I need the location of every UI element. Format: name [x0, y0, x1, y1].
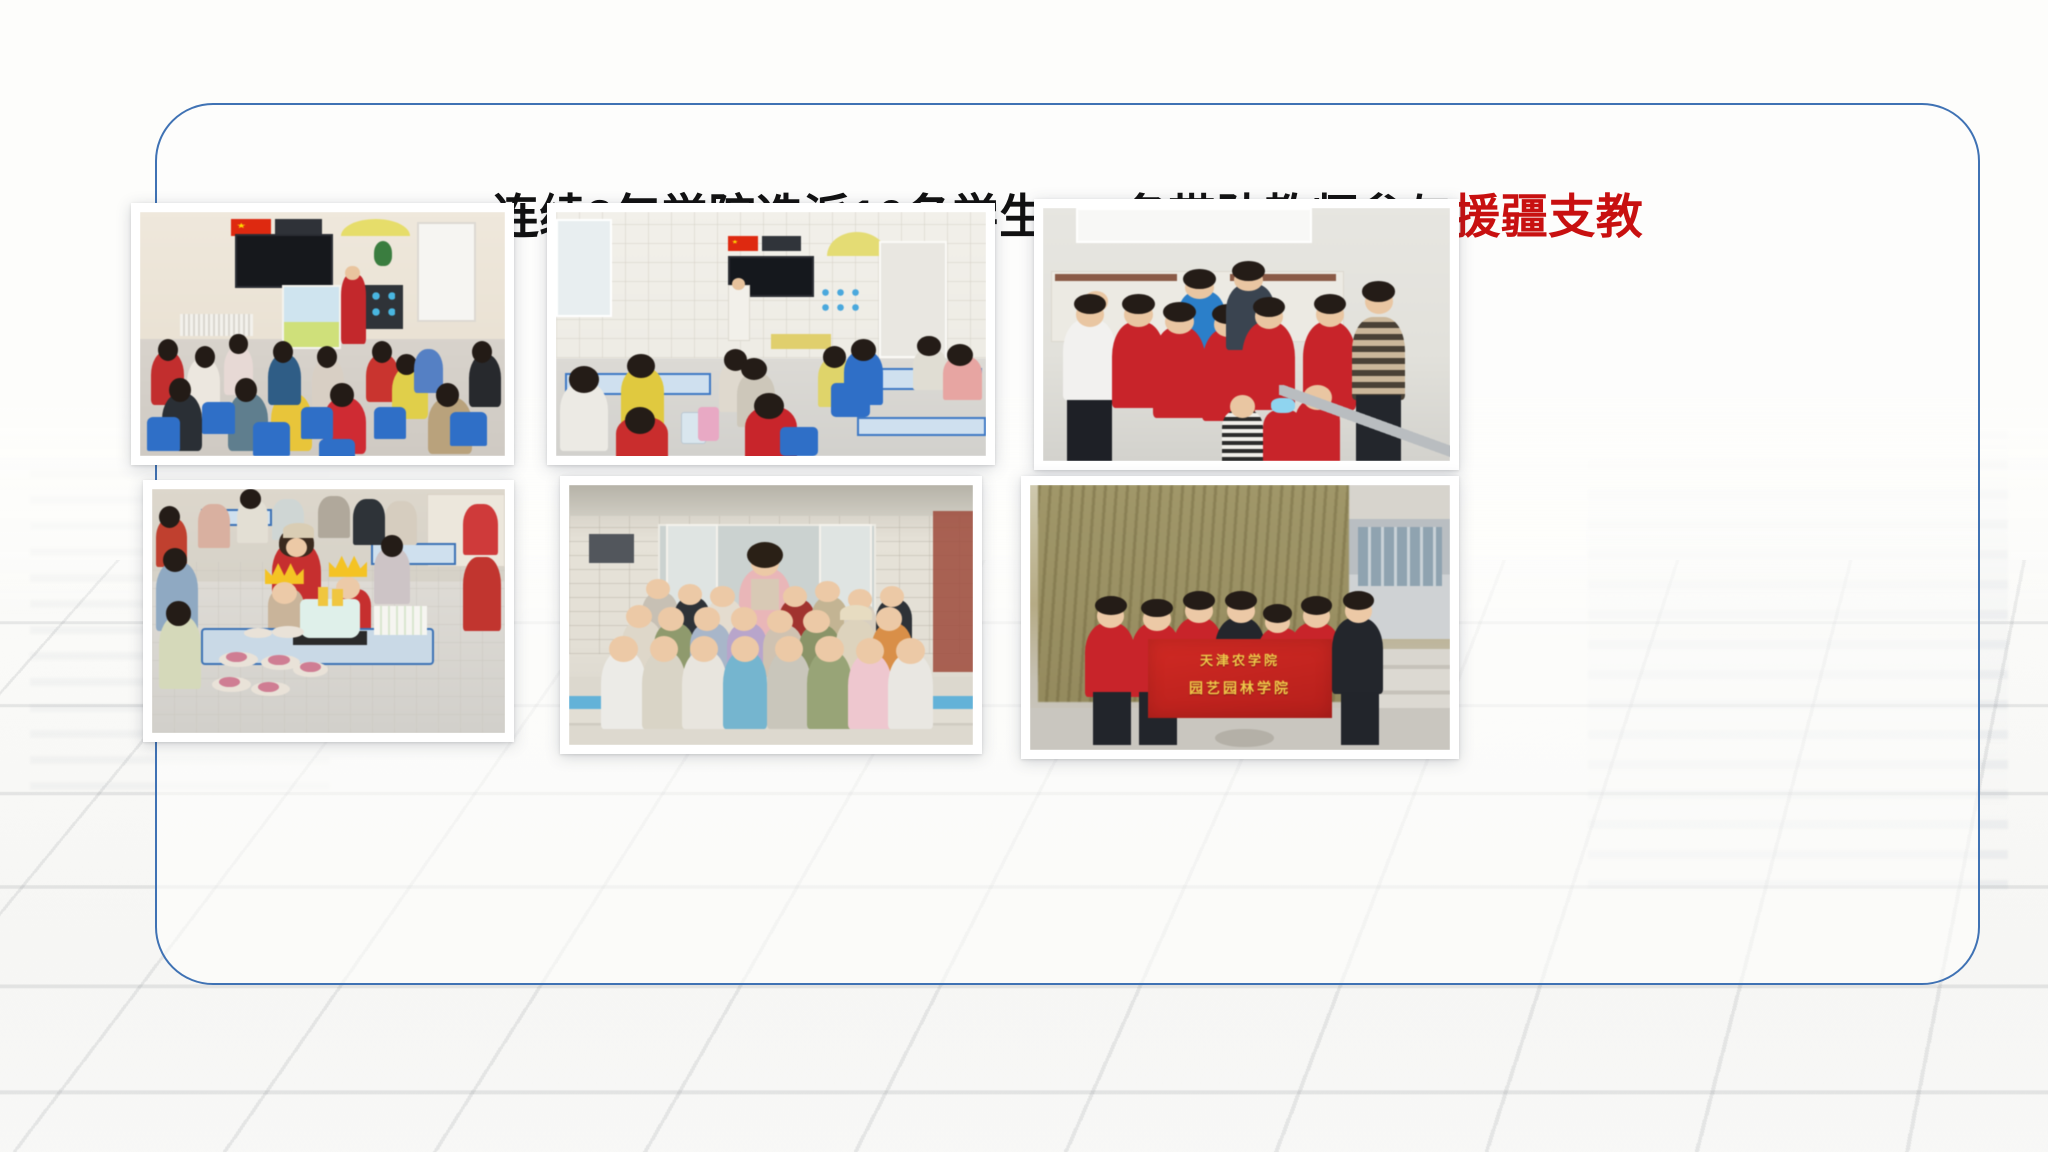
cake-candle: [318, 587, 329, 607]
child-seated: [560, 383, 607, 451]
teacher-hair: [1343, 591, 1375, 610]
blue-chair: [202, 402, 235, 434]
china-flag-poster-icon: [728, 236, 758, 251]
sun-hat: [840, 605, 872, 621]
photo-banner-departure-image: 天津农学院 园艺园林学院: [1030, 485, 1450, 750]
child-head: [627, 354, 655, 378]
blue-chair: [831, 383, 870, 417]
water-bottle: [698, 407, 720, 441]
stair-handrail: [1279, 385, 1450, 461]
red-banner: 天津农学院 园艺园林学院: [1148, 639, 1333, 719]
child-head: [381, 535, 402, 557]
photo-birthday-party-image: [152, 489, 505, 733]
volunteer-hair: [1253, 297, 1286, 317]
photo-group-stairwell-image: [1043, 208, 1450, 461]
photo-birthday-party[interactable]: [143, 480, 514, 742]
display-board-pattern: [818, 285, 865, 317]
child-head: [195, 346, 215, 368]
step-color-band: [933, 696, 973, 709]
child-front-row: [848, 654, 892, 729]
snack: [258, 682, 279, 692]
step-color-band: [569, 696, 605, 709]
volunteer-trousers: [1067, 400, 1112, 461]
child-seated: [463, 557, 502, 630]
photo-group-stairwell[interactable]: [1034, 199, 1459, 470]
child-standing: [159, 616, 201, 689]
teacher-cap: [283, 523, 315, 538]
child-head: [851, 339, 877, 361]
teacher-hair: [1362, 281, 1395, 301]
wall-photo: [762, 236, 801, 251]
child-face: [710, 586, 734, 607]
child-seated: [318, 496, 350, 537]
child-seated: [198, 504, 230, 548]
child-face: [650, 636, 678, 662]
banner-line-1: 天津农学院: [1148, 650, 1333, 669]
radiator: [180, 314, 253, 336]
child-head: [625, 407, 655, 434]
child-head: [235, 378, 257, 402]
volunteer-white-shirt: [1063, 319, 1116, 400]
child-face: [815, 581, 839, 602]
child-seated: [463, 504, 498, 555]
teacher-dark-jacket: [1332, 618, 1382, 695]
teacher-hair: [747, 542, 783, 568]
page-title-accent: 援疆支教: [1453, 190, 1643, 243]
child-head: [917, 336, 941, 356]
held-picture-book: [282, 285, 340, 348]
child-head: [163, 548, 188, 572]
student-hair: [1183, 269, 1216, 289]
snack: [268, 655, 289, 665]
banner-line-2: 园艺园林学院: [1148, 678, 1333, 698]
child-head: [166, 601, 191, 625]
photo-classroom-poster-image: [140, 212, 505, 456]
volunteer-hair: [1095, 596, 1127, 615]
child-front-row: [601, 651, 645, 729]
blue-chair: [147, 417, 180, 451]
birthday-cake: [300, 599, 360, 638]
child-front-row: [642, 651, 686, 729]
child-front-row: [888, 654, 932, 729]
volunteer-hair: [1122, 294, 1155, 314]
photo-classroom-poster[interactable]: [131, 203, 514, 465]
building-windows: [1358, 527, 1442, 585]
child-face: [690, 636, 718, 662]
child-face: [1230, 395, 1254, 418]
wall-plaque: [589, 534, 633, 563]
teacher-body: [728, 285, 750, 341]
child-seated: [353, 499, 385, 545]
photo-classroom-screen[interactable]: [547, 203, 995, 465]
blue-chair: [450, 412, 487, 446]
child-head: [947, 344, 973, 366]
volunteer-hair: [1183, 591, 1215, 610]
volunteer-hair: [1163, 302, 1196, 322]
photo-kids-entrance-image: [569, 485, 973, 745]
teacher-trousers: [1341, 692, 1379, 745]
classroom-door: [417, 222, 475, 322]
child-face: [646, 579, 670, 600]
child-head: [240, 489, 261, 509]
child-face: [896, 638, 924, 664]
child-face: [272, 582, 297, 604]
teacher-striped-top: [751, 579, 779, 610]
child-face: [694, 607, 720, 630]
volunteer-red-jacket: [1085, 623, 1135, 697]
classroom-window: [556, 219, 612, 317]
paper-plate: [272, 626, 304, 638]
snack-plate: [244, 628, 272, 638]
child-head: [569, 366, 599, 393]
volunteer-red-jacket: [1153, 327, 1206, 418]
child-face: [815, 636, 843, 662]
photo-banner-departure[interactable]: 天津农学院 园艺园林学院: [1021, 476, 1459, 759]
classroom-table: [857, 417, 986, 437]
snack: [219, 677, 240, 687]
child-head: [158, 339, 178, 361]
wall-tree-decor: [374, 241, 392, 265]
blue-chair: [780, 427, 819, 456]
mural-border-top: [1055, 274, 1177, 282]
child-face: [609, 636, 637, 662]
child-face: [775, 636, 803, 662]
wall-tv-screen: [235, 234, 334, 288]
child-head: [741, 358, 767, 380]
volunteer-hair: [1263, 604, 1292, 623]
volunteer-trousers: [1093, 692, 1131, 745]
child-front-row: [723, 651, 767, 729]
teacher-hair: [1225, 591, 1257, 610]
child-front-row: [767, 651, 811, 729]
child-front-row: [682, 651, 726, 729]
child-face: [876, 607, 902, 630]
child-face: [678, 584, 702, 605]
blue-chair: [301, 407, 334, 439]
teacher-body: [341, 275, 367, 343]
photo-kids-entrance[interactable]: [560, 476, 982, 754]
child-head: [754, 393, 784, 420]
manhole-cover: [1215, 729, 1274, 748]
yellow-bench: [771, 334, 831, 349]
milk-bottle-pack: [374, 606, 427, 635]
entrance-awning: [569, 485, 973, 516]
blue-chair: [253, 422, 290, 456]
photo-classroom-screen-image: [556, 212, 986, 456]
red-brick-column: [933, 511, 973, 672]
child-head: [229, 334, 247, 354]
child-face: [731, 636, 759, 662]
wall-decor-arc: [341, 219, 410, 236]
child-head: [330, 383, 354, 407]
child-face: [626, 605, 652, 628]
cake-candle: [332, 589, 343, 606]
child-front-row: [807, 651, 851, 729]
child-head: [372, 341, 392, 363]
child-face: [658, 607, 684, 630]
blue-chair: [374, 407, 407, 439]
child-face: [731, 607, 757, 630]
volunteer-hair: [1301, 596, 1333, 615]
stairwell-window: [1076, 208, 1312, 243]
child-face: [803, 610, 829, 633]
blue-chair: [319, 439, 356, 456]
